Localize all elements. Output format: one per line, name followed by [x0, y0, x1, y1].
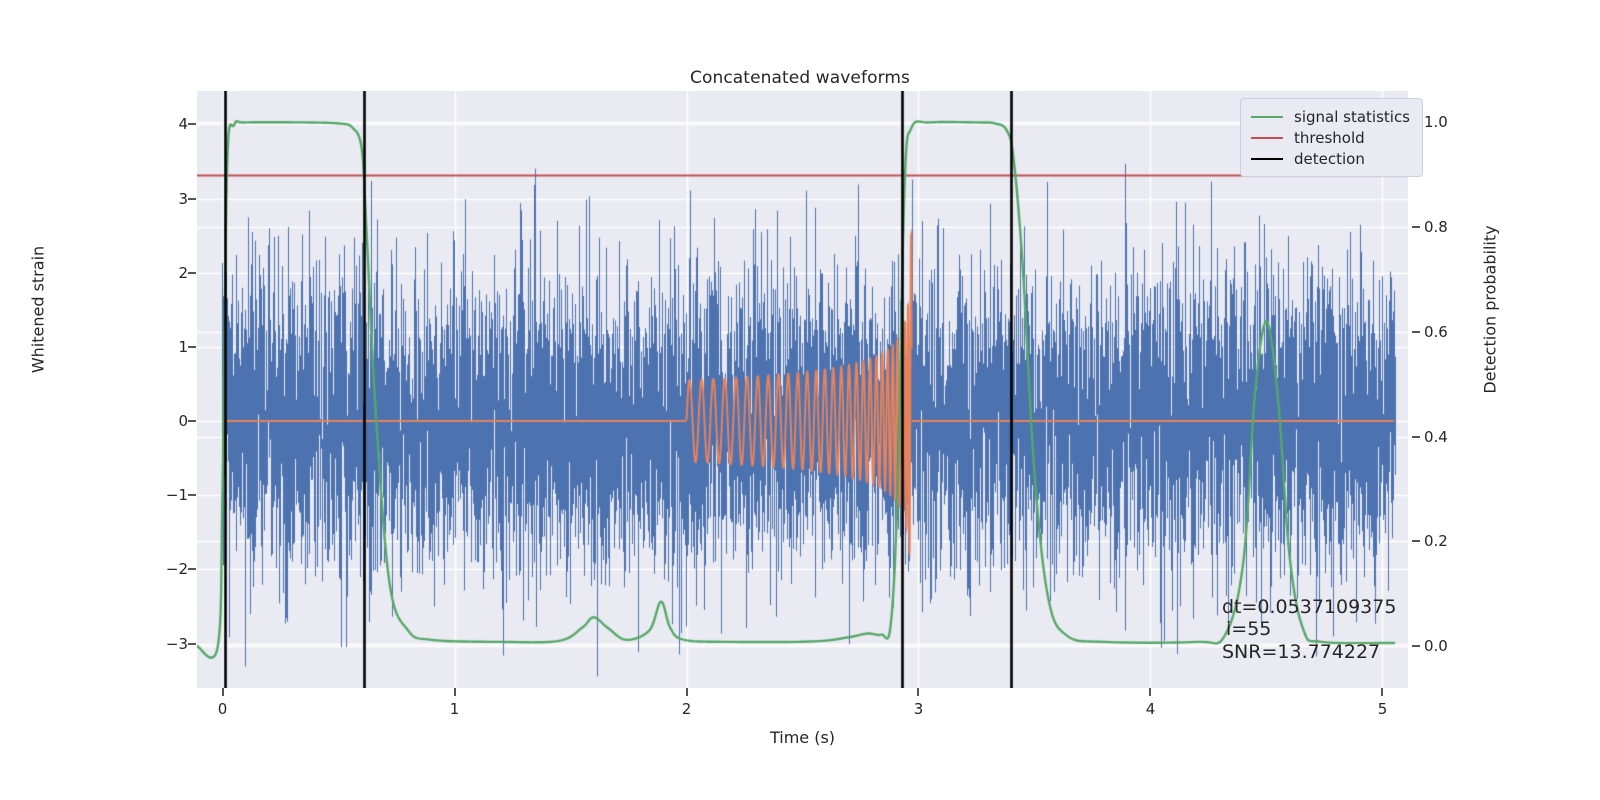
- secondary-y-axis-tick-mark: [1412, 226, 1420, 228]
- y-axis-tick-mark: [188, 346, 196, 348]
- y-axis-tick-label: −1: [166, 486, 188, 504]
- legend-line-swatch: [1251, 137, 1283, 139]
- legend-item-label: signal statistics: [1294, 108, 1410, 126]
- y-axis-tick-label: 1: [178, 338, 188, 356]
- secondary-y-axis-tick-label: 1.0: [1424, 113, 1448, 131]
- secondary-y-axis-tick-label: 0.0: [1424, 637, 1448, 655]
- annotation-index: i=55: [1226, 618, 1396, 640]
- x-axis-tick-label: 3: [914, 700, 924, 718]
- figure-canvas: Concatenated waveforms 43210−1−2−31.00.8…: [0, 0, 1600, 800]
- x-axis-tick-label: 2: [682, 700, 692, 718]
- secondary-y-axis-label: Detection probability: [1481, 160, 1500, 460]
- y-axis-tick-label: 4: [178, 115, 188, 133]
- legend-line-swatch: [1251, 158, 1283, 160]
- x-axis-tick-mark: [222, 688, 224, 696]
- x-axis-tick-mark: [454, 688, 456, 696]
- x-axis-label: Time (s): [197, 728, 1408, 747]
- y-axis-tick-label: −3: [166, 635, 188, 653]
- legend-item-detection: detection: [1251, 148, 1410, 169]
- y-axis-tick-mark: [188, 123, 196, 125]
- x-axis-tick-mark: [1149, 688, 1151, 696]
- secondary-y-axis-tick-mark: [1412, 436, 1420, 438]
- annotation-dt: dt=0.0537109375: [1222, 596, 1396, 618]
- x-axis-tick-mark: [686, 688, 688, 696]
- y-axis-tick-mark: [188, 198, 196, 200]
- legend-item-label: threshold: [1294, 129, 1365, 147]
- legend-item-signal-statistics: signal statistics: [1251, 106, 1410, 127]
- secondary-y-axis-tick-mark: [1412, 645, 1420, 647]
- y-axis-tick-mark: [188, 420, 196, 422]
- stats-annotation: dt=0.0537109375 i=55 SNR=13.774227: [1222, 596, 1396, 663]
- secondary-y-axis-tick-label: 0.8: [1424, 218, 1448, 236]
- secondary-y-axis-tick-mark: [1412, 540, 1420, 542]
- secondary-y-axis-tick-label: 0.2: [1424, 532, 1448, 550]
- chart-legend: signal statistics threshold detection: [1240, 98, 1423, 177]
- y-axis-tick-label: 2: [178, 264, 188, 282]
- y-axis-tick-label: −2: [166, 560, 188, 578]
- x-axis-tick-label: 4: [1146, 700, 1156, 718]
- legend-item-label: detection: [1294, 150, 1365, 168]
- y-axis-tick-label: 0: [178, 412, 188, 430]
- y-axis-tick-mark: [188, 494, 196, 496]
- y-axis-tick-mark: [188, 568, 196, 570]
- x-axis-tick-label: 1: [450, 700, 460, 718]
- secondary-y-axis-tick-mark: [1412, 331, 1420, 333]
- x-axis-tick-label: 5: [1378, 700, 1388, 718]
- y-axis-tick-label: 3: [178, 190, 188, 208]
- page-title: Concatenated waveforms: [0, 68, 1600, 88]
- x-axis-tick-mark: [917, 688, 919, 696]
- x-axis-tick-mark: [1381, 688, 1383, 696]
- y-axis-tick-mark: [188, 643, 196, 645]
- secondary-y-axis-tick-label: 0.4: [1424, 428, 1448, 446]
- secondary-y-axis-tick-label: 0.6: [1424, 323, 1448, 341]
- legend-line-swatch: [1251, 116, 1283, 118]
- x-axis-tick-label: 0: [218, 700, 228, 718]
- legend-item-threshold: threshold: [1251, 127, 1410, 148]
- y-axis-tick-mark: [188, 272, 196, 274]
- y-axis-label: Whitened strain: [29, 160, 48, 460]
- annotation-snr: SNR=13.774227: [1222, 641, 1396, 663]
